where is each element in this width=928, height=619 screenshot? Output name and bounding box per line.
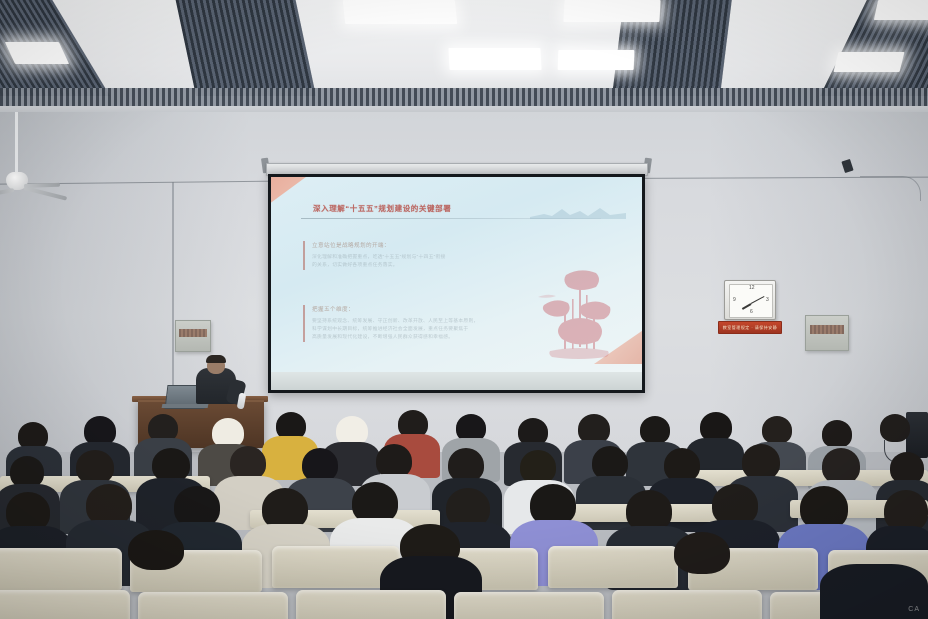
audience-head	[762, 416, 792, 444]
audience-head	[76, 450, 114, 484]
slide-block-2-line: 要坚持系统观念、统筹发展、守正创新、改革开放、人民至上等基本原则，	[312, 318, 547, 326]
seat-back	[138, 592, 288, 619]
ceiling-fan-rod	[15, 112, 18, 178]
audience	[0, 404, 928, 619]
audience-head	[664, 448, 700, 482]
slide-block-1-line: 的关系，切实做好各项重点任务落实。	[312, 262, 542, 270]
screen-lower-band	[271, 372, 642, 390]
electrical-box-right	[805, 315, 849, 351]
lotus-graphic-icon	[536, 265, 620, 369]
ceiling-panel-light	[448, 48, 541, 70]
wall-clock: 12 3 6 9	[724, 280, 776, 320]
seat-back	[296, 590, 446, 619]
slide-block-2-line: 高质量发展和现代化建设，不断增强人民群众获得感和幸福感。	[312, 334, 547, 342]
seat-back	[548, 546, 678, 588]
mountain-motif-icon	[530, 203, 626, 219]
slide-block-2-line: 科学谋划中长期目标，统筹推进经济社会全面发展，重点任务要聚焦于	[312, 326, 547, 334]
seat-back	[0, 590, 130, 619]
electrical-box-face	[179, 329, 206, 337]
presentation-slide: 深入理解“十五五”规划建设的关键部署 立意站位是战略规划的开端： 深化理解和准确…	[271, 177, 642, 372]
projection-screen: 深入理解“十五五”规划建设的关键部署 立意站位是战略规划的开端： 深化理解和准确…	[268, 174, 645, 393]
wall-notice-sign-text: 教室管理规定 · 请保持安静	[719, 322, 781, 333]
clock-tick-9: 9	[733, 298, 736, 303]
audience-head	[592, 446, 628, 480]
clock-tick-12: 12	[749, 286, 755, 291]
audience-head	[302, 448, 338, 482]
seat-back	[0, 548, 122, 590]
slide-block-1: 立意站位是战略规划的开端： 深化理解和准确把握重点，吃透“十五五”规划与“十四五…	[303, 241, 542, 270]
speaker-hair	[206, 355, 226, 363]
slide-block-2: 把握五个维度： 要坚持系统观念、统筹发展、守正创新、改革开放、人民至上等基本原则…	[303, 305, 547, 342]
ceiling-panel-light	[874, 0, 928, 20]
audience-head	[742, 444, 780, 480]
wall-conduit-pipe	[172, 182, 174, 390]
audience-head	[230, 446, 266, 480]
audience-head	[674, 532, 730, 574]
slide-block-1-heading: 立意站位是战略规划的开端：	[312, 241, 542, 249]
audience-head	[376, 444, 412, 478]
slide-block-1-line: 深化理解和准确把握重点，吃透“十五五”规划与“十四五”衔接	[312, 254, 542, 262]
ceiling-panel-light	[5, 42, 69, 64]
ceiling-panel-light	[558, 50, 635, 70]
lecture-hall-photo: 12 3 6 9 教室管理规定 · 请保持安静 深入理解“十五五”规划建设的关键…	[0, 0, 928, 619]
audience-head	[880, 414, 910, 442]
ceiling-panel-light	[343, 0, 458, 24]
ceiling-beam	[175, 0, 316, 96]
image-watermark: CA	[908, 606, 920, 613]
audience-head	[640, 416, 670, 444]
ceiling-panel-light	[563, 0, 660, 22]
seat-back	[454, 592, 604, 619]
wall-cable-curve	[860, 176, 921, 201]
ceiling-panel-light	[834, 52, 905, 72]
clock-tick-3: 3	[766, 298, 769, 303]
wall-notice-sign: 教室管理规定 · 请保持安静	[718, 321, 782, 334]
clock-tick-6: 6	[750, 310, 753, 315]
audience-head	[152, 448, 190, 482]
seat-back	[612, 590, 762, 619]
slide-title: 深入理解“十五五”规划建设的关键部署	[313, 203, 451, 214]
projection-screen-surface: 深入理解“十五五”规划建设的关键部署 立意站位是战略规划的开端： 深化理解和准确…	[271, 177, 642, 390]
electrical-box-left	[175, 320, 211, 352]
slide-block-2-heading: 把握五个维度：	[312, 305, 547, 313]
clock-face: 12 3 6 9	[729, 284, 773, 318]
audience-head	[520, 450, 556, 484]
electrical-box-face	[810, 325, 844, 334]
audience-head	[448, 448, 484, 482]
ceiling	[0, 0, 928, 118]
audience-head	[128, 530, 184, 570]
audience-head	[822, 448, 860, 484]
audience-head	[822, 420, 852, 448]
clock-minute-hand	[751, 296, 765, 304]
